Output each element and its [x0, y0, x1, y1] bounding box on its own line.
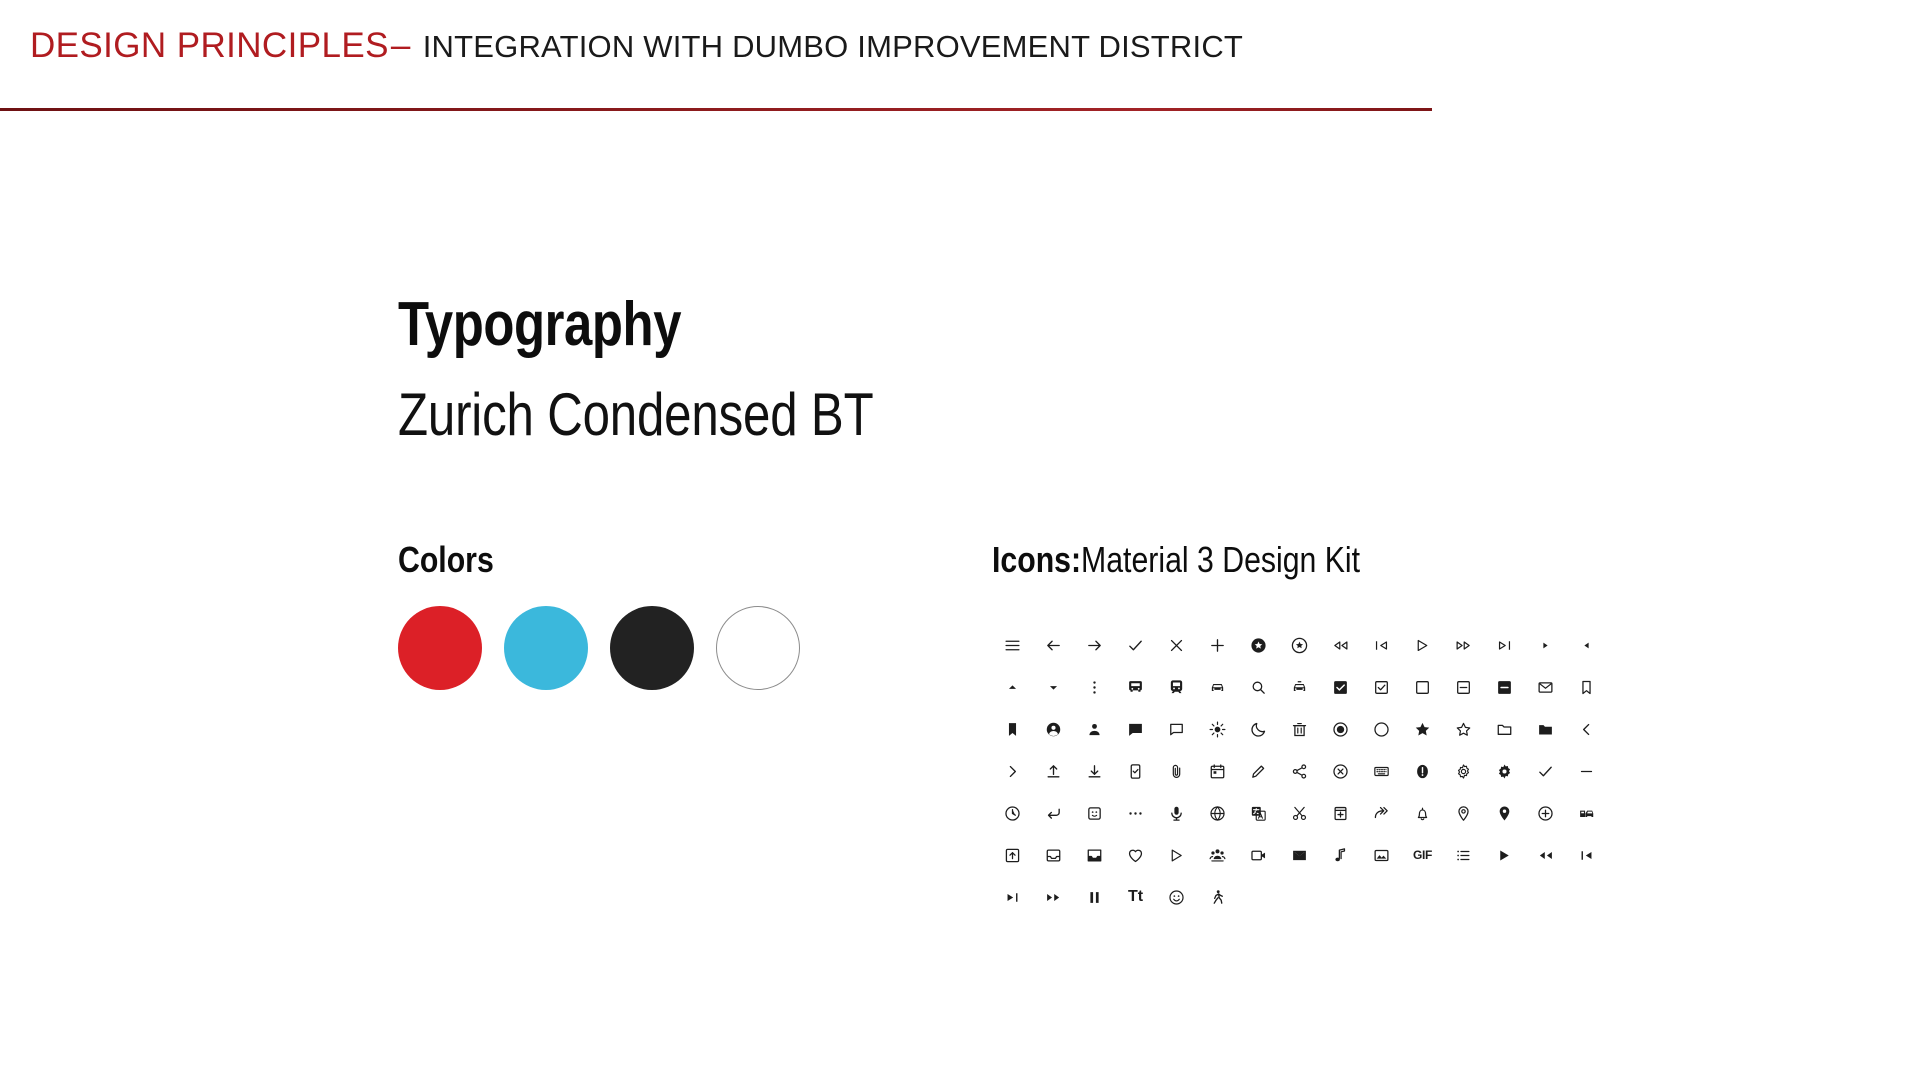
walk-icon[interactable] [1197, 876, 1238, 918]
mail-outline-icon[interactable] [1525, 666, 1566, 708]
emoji-icon[interactable] [1156, 876, 1197, 918]
car-icon[interactable] [1197, 666, 1238, 708]
send-outline-icon[interactable] [1156, 834, 1197, 876]
star-filled-icon[interactable] [1402, 708, 1443, 750]
delete-icon[interactable] [1279, 708, 1320, 750]
brightness-icon[interactable] [1197, 708, 1238, 750]
colors-heading: Colors [398, 540, 736, 580]
plus-icon[interactable] [1197, 624, 1238, 666]
color-swatch-brand-black [610, 606, 694, 690]
settings-filled-icon[interactable] [1484, 750, 1525, 792]
more-vertical-icon[interactable] [1074, 666, 1115, 708]
search-icon[interactable] [1238, 666, 1279, 708]
checkbox-checked-outline-icon[interactable] [1361, 666, 1402, 708]
chevron-left-icon[interactable] [1566, 708, 1607, 750]
person-icon[interactable] [1074, 708, 1115, 750]
check-small-icon[interactable] [1525, 750, 1566, 792]
arrow-up-small-icon[interactable] [992, 666, 1033, 708]
star-circle-filled-icon[interactable] [1238, 624, 1279, 666]
train-icon[interactable] [1156, 666, 1197, 708]
header-divider [0, 108, 1432, 111]
pause-icon[interactable] [1074, 876, 1115, 918]
icon-row-5 [992, 792, 1607, 834]
menu-icon[interactable] [992, 624, 1033, 666]
mail-filled-icon[interactable] [1279, 834, 1320, 876]
reply-icon[interactable] [1033, 792, 1074, 834]
group-icon[interactable] [1197, 834, 1238, 876]
minus-icon[interactable] [1566, 750, 1607, 792]
star-outline-icon[interactable] [1443, 708, 1484, 750]
account-circle-icon[interactable] [1033, 708, 1074, 750]
upload-icon[interactable] [1033, 750, 1074, 792]
icon-row-1 [992, 624, 1607, 666]
dark-mode-icon[interactable] [1238, 708, 1279, 750]
radio-checked-icon[interactable] [1320, 708, 1361, 750]
slide-header: DESIGN PRINCIPLES–INTEGRATION WITH DUMBO… [0, 0, 1920, 120]
fast-forward-filled-icon[interactable] [1033, 876, 1074, 918]
checkbox-indeterminate-filled-icon[interactable] [1484, 666, 1525, 708]
more-horizontal-icon[interactable] [1115, 792, 1156, 834]
color-swatch-row [398, 606, 800, 690]
checkbox-indeterminate-outline-icon[interactable] [1443, 666, 1484, 708]
calendar-icon[interactable] [1197, 750, 1238, 792]
skip-previous-icon[interactable] [1361, 624, 1402, 666]
arrow-right-icon[interactable] [1074, 624, 1115, 666]
folder-outline-icon[interactable] [1484, 708, 1525, 750]
bus-icon[interactable] [1115, 666, 1156, 708]
download-icon[interactable] [1074, 750, 1115, 792]
chat-outline-icon[interactable] [1156, 708, 1197, 750]
icon-row-3 [992, 708, 1607, 750]
location-filled-icon[interactable] [1484, 792, 1525, 834]
directions-car-icon[interactable] [1566, 792, 1607, 834]
taxi-icon[interactable] [1279, 666, 1320, 708]
typography-font-name: Zurich Condensed BT [398, 378, 873, 452]
skip-next-filled-icon[interactable] [992, 876, 1033, 918]
forward-double-icon[interactable] [1361, 792, 1402, 834]
location-outline-icon[interactable] [1443, 792, 1484, 834]
bookmark-filled-icon[interactable] [992, 708, 1033, 750]
sticker-icon[interactable] [1074, 792, 1115, 834]
page-title-dash: – [389, 26, 415, 65]
icon-row-4 [992, 750, 1607, 792]
archive-add-icon[interactable] [992, 834, 1033, 876]
edit-icon[interactable] [1238, 750, 1279, 792]
settings-outline-icon[interactable] [1443, 750, 1484, 792]
language-icon[interactable] [1197, 792, 1238, 834]
color-swatch-brand-white [716, 606, 800, 690]
color-swatch-brand-cyan [504, 606, 588, 690]
list-icon[interactable] [1443, 834, 1484, 876]
bookmark-outline-icon[interactable] [1566, 666, 1607, 708]
caret-left-small-icon[interactable] [1566, 624, 1607, 666]
inbox-filled-icon[interactable] [1074, 834, 1115, 876]
music-note-icon[interactable] [1320, 834, 1361, 876]
fast-forward-icon[interactable] [1443, 624, 1484, 666]
keyboard-icon[interactable] [1361, 750, 1402, 792]
cut-icon[interactable] [1279, 792, 1320, 834]
close-icon[interactable] [1156, 624, 1197, 666]
typography-section: Typography Zurich Condensed BT [398, 292, 978, 452]
notifications-icon[interactable] [1402, 792, 1443, 834]
gif-icon[interactable]: GIF [1402, 834, 1443, 876]
icons-heading-value: Material 3 Design Kit [1081, 539, 1360, 580]
checkbox-empty-icon[interactable] [1402, 666, 1443, 708]
play-outline-icon[interactable] [1402, 624, 1443, 666]
add-box-icon[interactable] [1320, 792, 1361, 834]
heart-icon[interactable] [1115, 834, 1156, 876]
text-format-icon[interactable]: Tt [1115, 876, 1156, 918]
cancel-circle-icon[interactable] [1320, 750, 1361, 792]
icons-heading: Icons:Material 3 Design Kit [992, 540, 1509, 580]
error-icon[interactable] [1402, 750, 1443, 792]
image-icon[interactable] [1361, 834, 1402, 876]
icons-heading-label: Icons: [992, 539, 1081, 580]
rewind-filled-icon[interactable] [1525, 834, 1566, 876]
page-title-primary: DESIGN PRINCIPLES [30, 26, 389, 65]
chevron-right-icon[interactable] [992, 750, 1033, 792]
icon-row-2 [992, 666, 1607, 708]
add-circle-icon[interactable] [1525, 792, 1566, 834]
skip-next-icon[interactable] [1484, 624, 1525, 666]
page-title: DESIGN PRINCIPLES–INTEGRATION WITH DUMBO… [30, 26, 1243, 66]
page-title-secondary: INTEGRATION WITH DUMBO IMPROVEMENT DISTR… [415, 29, 1243, 64]
translate-icon[interactable] [1238, 792, 1279, 834]
chat-filled-icon[interactable] [1115, 708, 1156, 750]
radio-unchecked-icon[interactable] [1361, 708, 1402, 750]
checkbox-checked-filled-icon[interactable] [1320, 666, 1361, 708]
play-filled-icon[interactable] [1484, 834, 1525, 876]
skip-previous-filled-icon[interactable] [1566, 834, 1607, 876]
typography-heading: Typography [398, 292, 873, 358]
caret-right-small-icon[interactable] [1525, 624, 1566, 666]
attachment-icon[interactable] [1156, 750, 1197, 792]
star-circle-outline-icon[interactable] [1279, 624, 1320, 666]
text-format-label: Tt [1128, 889, 1143, 905]
videocam-icon[interactable] [1238, 834, 1279, 876]
rewind-icon[interactable] [1320, 624, 1361, 666]
check-icon[interactable] [1115, 624, 1156, 666]
inbox-outline-icon[interactable] [1033, 834, 1074, 876]
icon-row-7: Tt [992, 876, 1607, 918]
arrow-left-icon[interactable] [1033, 624, 1074, 666]
arrow-down-small-icon[interactable] [1033, 666, 1074, 708]
icon-grid: GIFTt [992, 624, 1607, 918]
color-swatch-brand-red [398, 606, 482, 690]
icon-row-6: GIF [992, 834, 1607, 876]
mic-icon[interactable] [1156, 792, 1197, 834]
share-icon[interactable] [1279, 750, 1320, 792]
gif-label: GIF [1413, 848, 1432, 862]
folder-filled-icon[interactable] [1525, 708, 1566, 750]
colors-section: Colors [398, 540, 800, 690]
mobile-check-icon[interactable] [1115, 750, 1156, 792]
icons-section: Icons:Material 3 Design Kit GIFTt [992, 540, 1607, 918]
history-icon[interactable] [992, 792, 1033, 834]
